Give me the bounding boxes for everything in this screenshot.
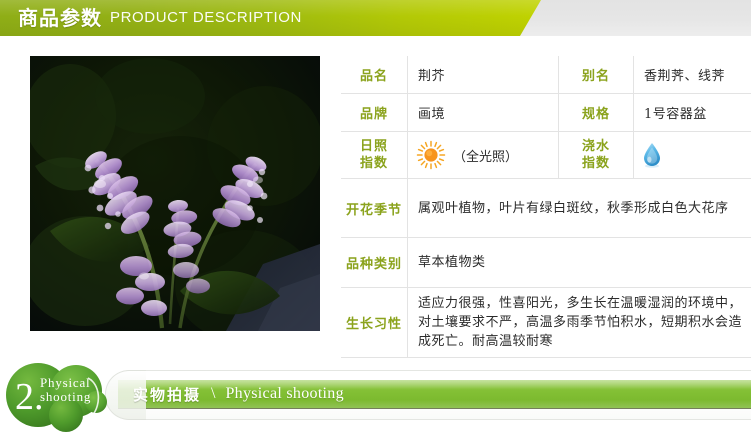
spec-value-flowering-season: 属观叶植物，叶片有绿白斑纹，秋季形成白色大花序 <box>408 179 751 238</box>
spec-label-guige: 规格 <box>559 94 634 132</box>
table-row: 生长习性 适应力很强，性喜阳光，多生长在温暖湿润的环境中，对土壤要求不严，高温多… <box>341 288 751 358</box>
table-row: 品种类别 草本植物类 <box>341 238 751 288</box>
section-banner-text: 实物拍摄 \ Physical shooting <box>133 380 344 408</box>
spec-label-growth-habit: 生长习性 <box>341 288 408 358</box>
section-banner: 实物拍摄 \ Physical shooting <box>0 360 751 434</box>
page-header: 商品参数 PRODUCT DESCRIPTION <box>0 0 751 46</box>
spec-label-sunlight-index: 日照 指数 <box>341 132 408 179</box>
section-title-en: Physical shooting <box>225 385 343 403</box>
page-title-cn: 商品参数 <box>18 0 102 36</box>
spec-label-watering-line2: 指数 <box>559 155 633 172</box>
spec-label-flowering-season: 开花季节 <box>341 179 408 238</box>
section-banner-underline <box>118 408 751 409</box>
spec-label-bieming: 别名 <box>559 56 634 94</box>
spec-value-growth-habit: 适应力很强，性喜阳光，多生长在温暖湿润的环境中，对土壤要求不严，高温多雨季节怕积… <box>408 288 751 358</box>
water-drop-icon <box>642 142 662 168</box>
spec-value-variety-type: 草本植物类 <box>408 238 751 288</box>
spec-value-bieming: 香荆荠、线荠 <box>634 56 751 94</box>
spec-label-variety-type: 品种类别 <box>341 238 408 288</box>
spec-value-guige: 1号容器盆 <box>634 94 751 132</box>
product-photo-image <box>30 56 320 331</box>
spec-label-pinming: 品名 <box>341 56 408 94</box>
page-title-en: PRODUCT DESCRIPTION <box>110 0 302 36</box>
section-badge-en-line1: Physical <box>40 376 91 390</box>
spec-value-sunlight-note: （全光照） <box>453 146 518 165</box>
table-row: 日照 指数 <box>341 132 751 179</box>
section-title-cn: 实物拍摄 <box>133 384 201 405</box>
spec-value-sunlight-index: （全光照） <box>408 132 559 179</box>
product-spec-table: 品名 荆芥 别名 香荆荠、线荠 品牌 画境 规格 1号容器盆 日照 指数 <box>341 56 751 358</box>
spec-label-watering-index: 浇水 指数 <box>559 132 634 179</box>
sun-icon <box>416 140 446 170</box>
table-row: 开花季节 属观叶植物，叶片有绿白斑纹，秋季形成白色大花序 <box>341 179 751 238</box>
table-row: 品牌 画境 规格 1号容器盆 <box>341 94 751 132</box>
table-row: 品名 荆芥 别名 香荆荠、线荠 <box>341 56 751 94</box>
spec-value-watering-index <box>634 132 751 179</box>
product-photo <box>30 56 320 331</box>
spec-label-pinpai: 品牌 <box>341 94 408 132</box>
spec-value-pinpai: 画境 <box>408 94 559 132</box>
spec-label-sunlight-line2: 指数 <box>341 155 407 172</box>
spec-label-watering-line1: 浇水 <box>559 138 633 155</box>
spec-label-sunlight-line1: 日照 <box>341 138 407 155</box>
section-number-badge: 2. Physical shooting <box>4 362 129 432</box>
page-title: 商品参数 PRODUCT DESCRIPTION <box>18 0 302 36</box>
spec-value-pinming: 荆芥 <box>408 56 559 94</box>
section-badge-en-line2: shooting <box>40 390 91 404</box>
section-title-separator: \ <box>211 385 215 403</box>
section-badge-en: Physical shooting <box>40 376 91 404</box>
